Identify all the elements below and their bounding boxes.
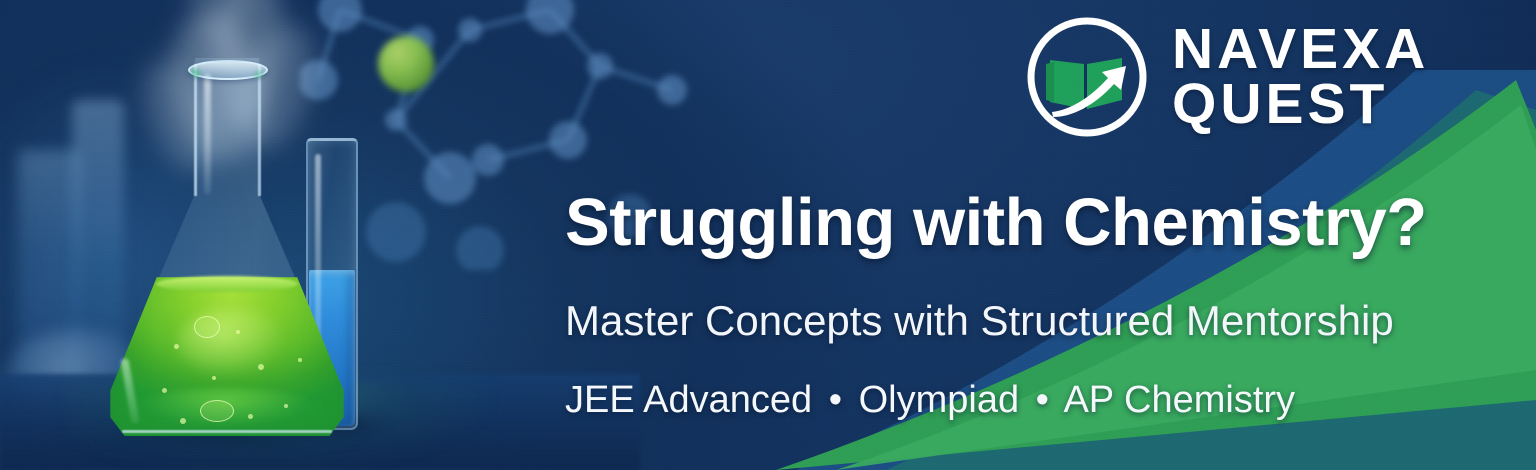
course-separator: • xyxy=(823,379,848,421)
banner-copy: Struggling with Chemistry? Master Concep… xyxy=(565,184,1445,422)
brand-logo[interactable]: NAVEXA QUEST xyxy=(1024,14,1429,140)
flask-liquid-highlight xyxy=(178,308,288,378)
brand-name-line2: QUEST xyxy=(1172,77,1429,132)
flask-liquid-surface xyxy=(156,276,298,292)
erlenmeyer-flask xyxy=(108,58,346,436)
bubble xyxy=(200,400,234,422)
brand-name-line1: NAVEXA xyxy=(1172,22,1429,77)
flask-base-edge xyxy=(122,430,332,433)
course-list: JEE Advanced • Olympiad • AP Chemistry xyxy=(565,379,1445,422)
course-item-1: JEE Advanced xyxy=(565,379,812,421)
brand-wordmark: NAVEXA QUEST xyxy=(1172,22,1429,131)
promo-banner: NAVEXA QUEST Struggling with Chemistry? … xyxy=(0,0,1536,470)
flask-neck-edge-right xyxy=(258,64,261,196)
headline: Struggling with Chemistry? xyxy=(565,184,1445,261)
bubble xyxy=(194,316,220,338)
open-book-with-rising-arrow-icon xyxy=(1024,14,1150,140)
flask-rim-tint xyxy=(254,70,263,79)
flask-rim-tint xyxy=(191,68,201,77)
course-separator: • xyxy=(1030,379,1055,421)
flask-neck-edge-left xyxy=(194,64,197,196)
course-item-3: AP Chemistry xyxy=(1063,379,1295,421)
course-item-2: Olympiad xyxy=(859,379,1020,421)
flask-neck-highlight xyxy=(204,74,211,194)
molecule-green-atom xyxy=(378,36,434,92)
subheadline: Master Concepts with Structured Mentorsh… xyxy=(565,297,1445,345)
